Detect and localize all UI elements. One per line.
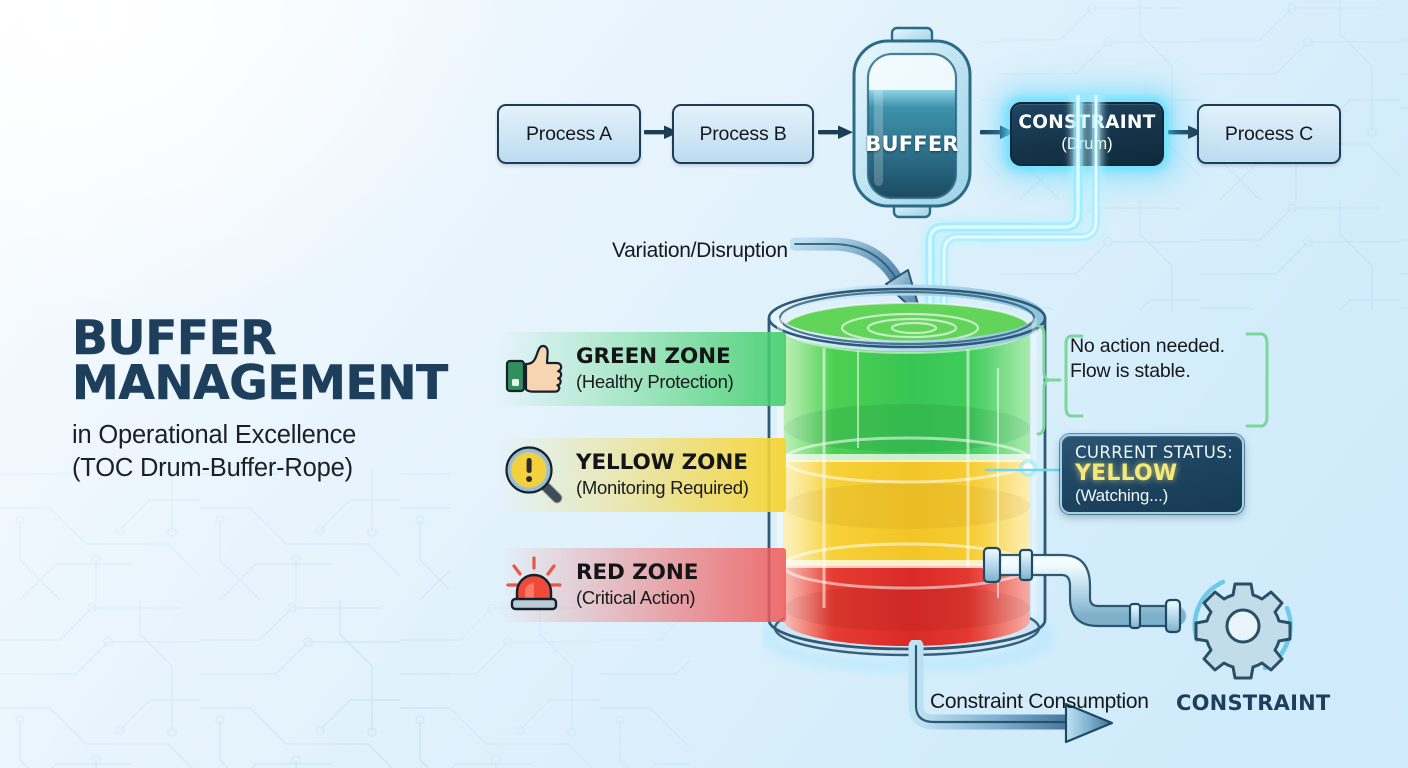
- legend-row-green-zone[interactable]: GREEN ZONE (Healthy Protection): [498, 332, 786, 406]
- green-zone-callout: No action needed. Flow is stable.: [1070, 334, 1270, 384]
- process-c-label: Process C: [1225, 123, 1313, 146]
- constraint-gear-label: CONSTRAINT: [1176, 691, 1330, 715]
- page-title-block: BUFFER MANAGEMENT in Operational Excelle…: [72, 316, 472, 486]
- yellow-zone-subtitle: (Monitoring Required): [576, 477, 749, 498]
- green-zone-text: GREEN ZONE (Healthy Protection): [570, 346, 733, 392]
- page-subtitle-line-2: (TOC Drum-Buffer-Rope): [72, 452, 472, 485]
- gear-icon: [1183, 566, 1303, 686]
- variation-disruption-label: Variation/Disruption: [612, 239, 788, 263]
- status-card-value: YELLOW: [1075, 462, 1242, 487]
- process-b-box[interactable]: Process B: [672, 104, 814, 164]
- constraint-gear-badge[interactable]: [1183, 566, 1303, 686]
- red-zone-text: RED ZONE (Critical Action): [570, 562, 698, 608]
- red-zone-title: RED ZONE: [576, 562, 698, 585]
- status-card-label: CURRENT STATUS:: [1075, 444, 1242, 462]
- green-callout-right-bracket: [1243, 330, 1277, 430]
- green-zone-subtitle: (Healthy Protection): [576, 371, 733, 392]
- legend-row-red-zone[interactable]: RED ZONE (Critical Action): [498, 548, 786, 622]
- alarm-light-icon: [498, 549, 570, 621]
- process-c-box[interactable]: Process C: [1197, 104, 1341, 164]
- process-b-label: Process B: [699, 123, 786, 146]
- green-callout-line-1: No action needed.: [1070, 334, 1270, 359]
- page-subtitle: in Operational Excellence (TOC Drum-Buff…: [72, 419, 472, 485]
- magnifier-warning-icon: [498, 439, 570, 511]
- legend-row-yellow-zone[interactable]: YELLOW ZONE (Monitoring Required): [498, 438, 786, 512]
- green-zone-title: GREEN ZONE: [576, 346, 733, 369]
- page-title-line-2: MANAGEMENT: [72, 361, 472, 406]
- thumbs-up-icon: [498, 333, 570, 405]
- page-title-line-1: BUFFER: [72, 316, 472, 361]
- process-a-box[interactable]: Process A: [497, 104, 641, 164]
- yellow-zone-text: YELLOW ZONE (Monitoring Required): [570, 452, 749, 498]
- constraint-consumption-label: Constraint Consumption: [930, 690, 1149, 714]
- infographic-canvas: BUFFER MANAGEMENT in Operational Excelle…: [0, 0, 1408, 768]
- current-status-card[interactable]: CURRENT STATUS: YELLOW (Watching...): [1060, 434, 1244, 514]
- green-callout-line-2: Flow is stable.: [1070, 359, 1270, 384]
- status-card-note: (Watching...): [1075, 487, 1242, 506]
- yellow-zone-title: YELLOW ZONE: [576, 452, 749, 475]
- process-a-label: Process A: [526, 123, 612, 146]
- red-zone-subtitle: (Critical Action): [576, 587, 698, 608]
- page-subtitle-line-1: in Operational Excellence: [72, 419, 472, 452]
